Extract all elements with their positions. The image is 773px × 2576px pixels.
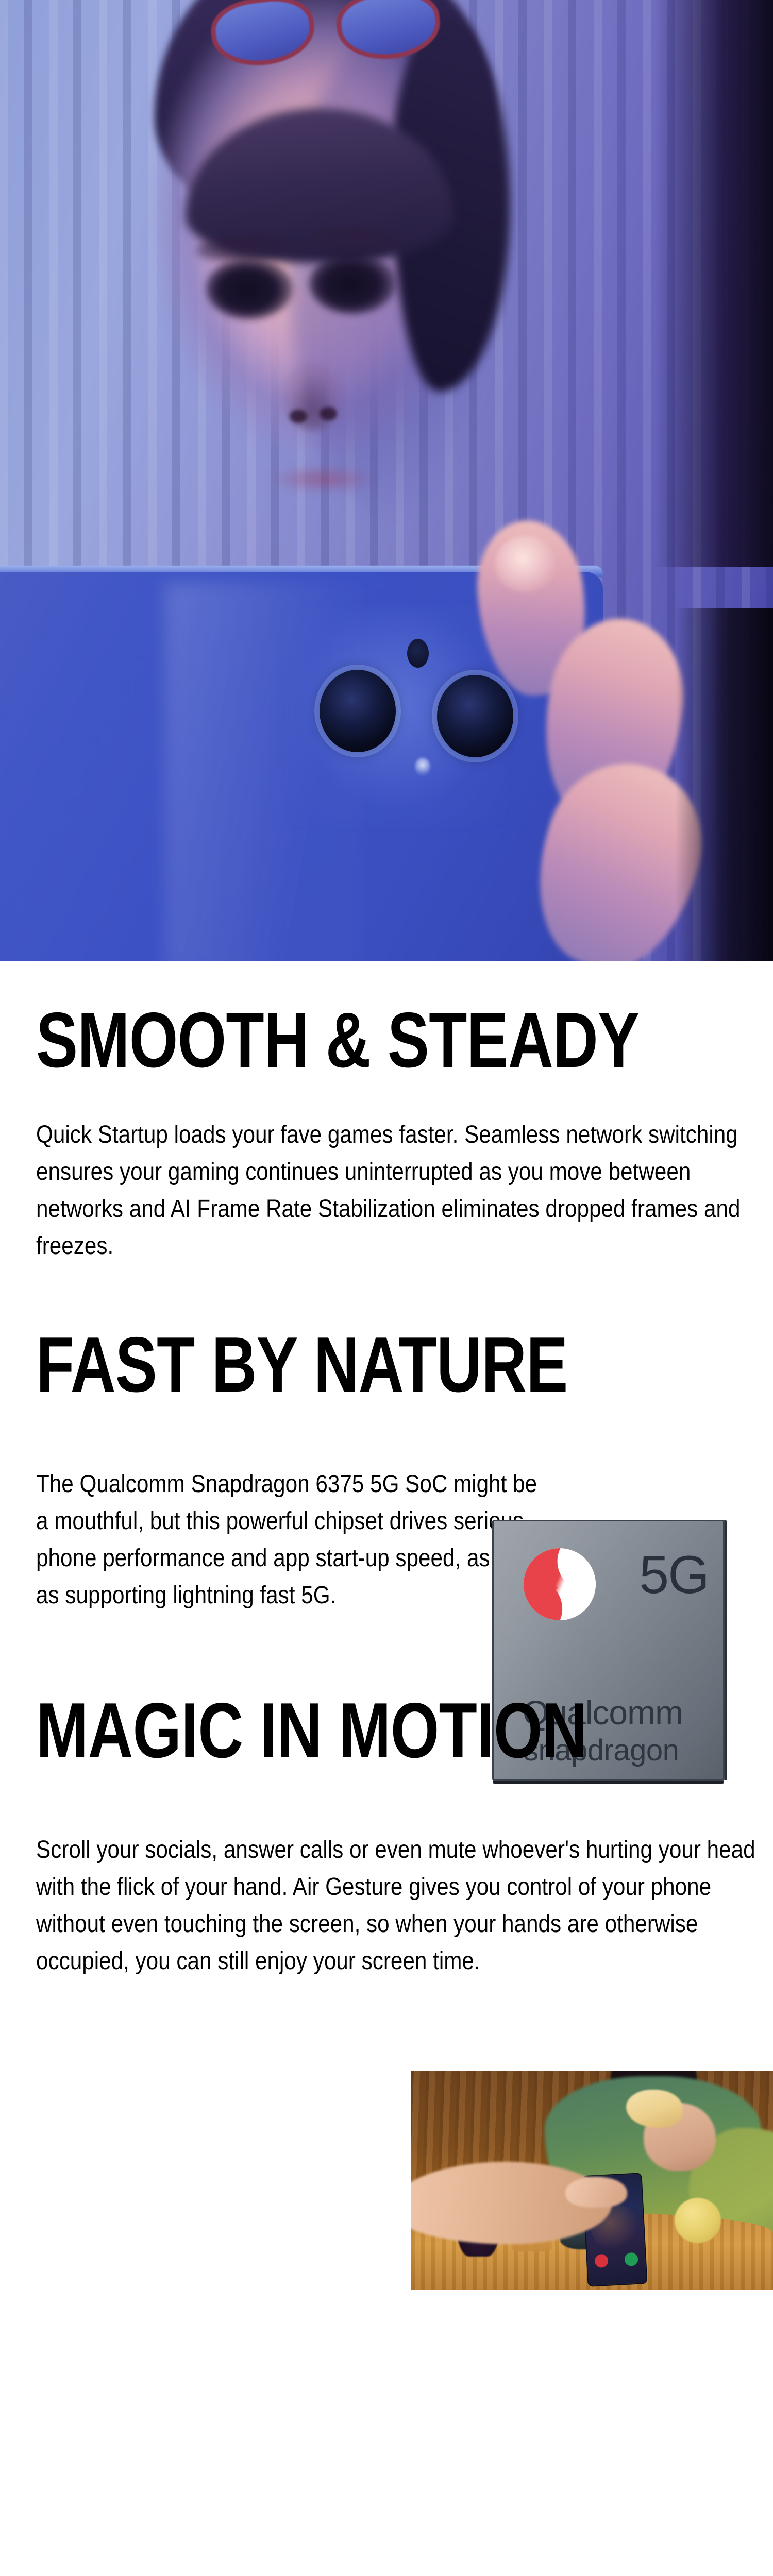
fast-by-nature-text-column: The Qualcomm Snapdragon 6375 5G SoC migh… [36,1466,551,1614]
section-magic-in-motion: MAGIC IN MOTION Scroll your socials, ans… [0,1614,773,1980]
air-gesture-photo [411,2071,773,2290]
section-heading-magic-in-motion: MAGIC IN MOTION [36,1691,626,1770]
camera-lens-main [320,670,396,752]
section-smooth-steady: SMOOTH & STEADY Quick Startup loads your… [0,961,773,1265]
portrait-eye-right [309,252,396,314]
decline-call-icon [594,2254,608,2268]
hero-backdrop-shadow [654,0,773,567]
sunglasses-lens-left [208,0,318,71]
fingernail [495,536,557,592]
snapdragon-logo-icon [524,1548,596,1620]
sunglasses-lens-right [334,0,443,63]
hero-right-shadow [675,608,773,961]
product-feature-page: SMOOTH & STEADY Quick Startup loads your… [0,0,773,2576]
photo-gesturing-fingers [565,2177,627,2208]
camera-sensor-icon [407,639,429,668]
chip-5g-badge: 5G [639,1548,709,1602]
section-heading-fast-by-nature: FAST BY NATURE [36,1326,626,1404]
portrait-eye-left [206,258,293,319]
section-heading-smooth-steady: SMOOTH & STEADY [36,1001,626,1079]
portrait-nostril-left [290,410,307,423]
portrait-lips [268,466,376,492]
portrait-nose [281,363,343,430]
sunglasses-icon [206,0,443,93]
photo-lemon [675,2198,721,2243]
hand-holding-phone [479,541,701,961]
portrait-nostril-right [320,407,337,420]
camera-flash-icon [415,757,430,776]
accept-call-icon [624,2252,638,2266]
hero-scene [0,0,773,961]
hero-image [0,0,773,961]
section-body-smooth-steady: Quick Startup loads your fave games fast… [36,1116,771,1265]
section-body-fast-by-nature: The Qualcomm Snapdragon 6375 5G SoC migh… [36,1466,548,1614]
section-body-magic-in-motion: Scroll your socials, answer calls or eve… [36,1832,773,1980]
